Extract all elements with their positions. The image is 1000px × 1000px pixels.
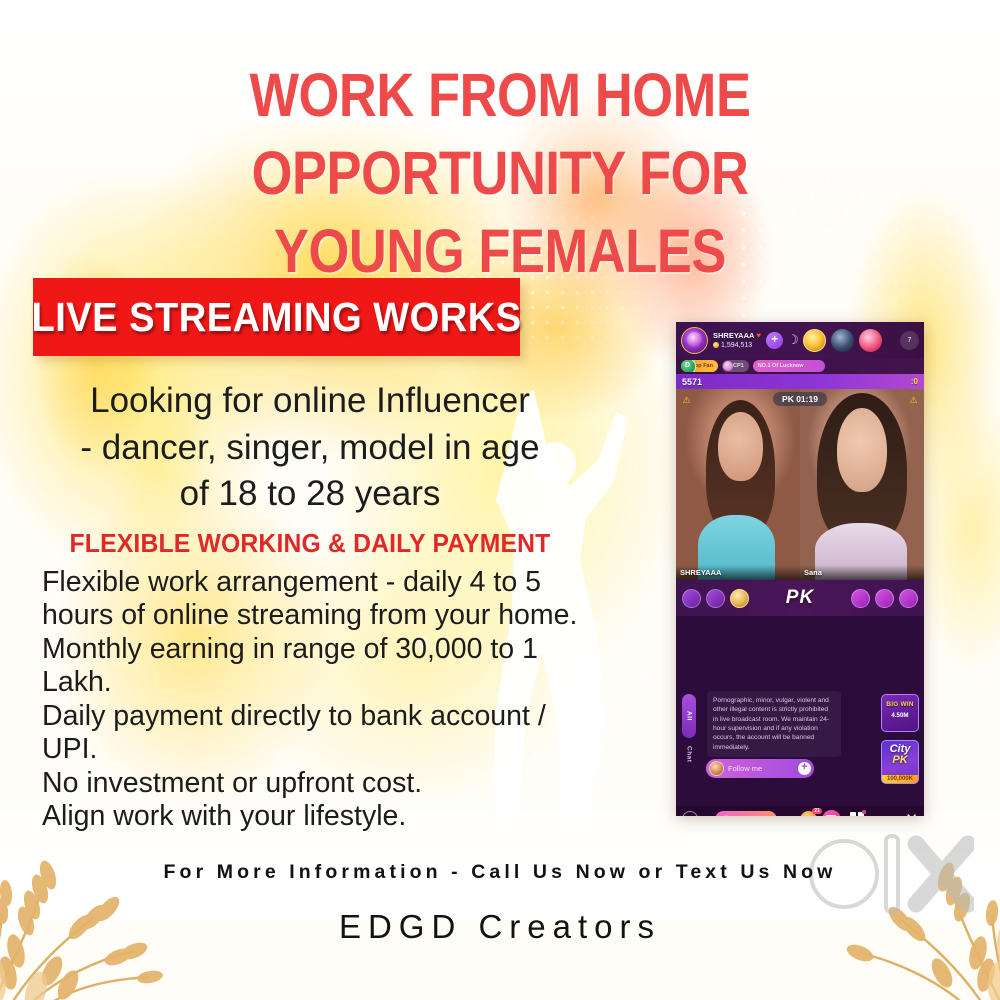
right-face-shape [837, 408, 887, 492]
viewer-avatar-1[interactable] [831, 329, 854, 352]
body-line-7: No investment or upfront cost. [42, 767, 602, 800]
sub-headline: FLEXIBLE WORKING & DAILY PAYMENT [44, 528, 576, 559]
intro-paragraph: Looking for online Influencer - dancer, … [30, 378, 590, 518]
video-left-streamer[interactable]: ⚠ SHREYAAA [676, 389, 800, 580]
body-line-6: UPI. [42, 733, 602, 766]
brand-name: EDGD Creators [0, 908, 1000, 946]
right-streamer-name-overlay: Sana [800, 565, 924, 580]
city-pk-amount: 100,000K [882, 775, 918, 783]
intro-line-3: of 18 to 28 years [30, 471, 590, 518]
big-win-value: 4.50M [882, 712, 918, 719]
crown-badge-icon[interactable] [803, 329, 826, 352]
pk-icon-2[interactable] [706, 589, 725, 608]
call-rate-button[interactable]: ☎ 8000 ♥/min [715, 811, 777, 817]
right-streamer-name: Sana [804, 568, 822, 577]
pk-right-icons [851, 589, 918, 608]
body-copy: Flexible work arrangement - daily 4 to 5… [42, 566, 602, 834]
big-win-promo-badge[interactable]: BIG WIN 4.50M [881, 694, 919, 732]
streamer-info: SHREYAAA ♥ 1,594,513 [713, 331, 761, 349]
warning-icon-right: ⚠ [908, 395, 919, 406]
pk-timer: PK 01:19 [773, 392, 827, 406]
intro-line-1: Looking for online Influencer [30, 378, 590, 425]
video-right-streamer[interactable]: ⚠ Sana [800, 389, 924, 580]
coin-count: 1,594,513 [721, 342, 752, 349]
body-line-1: Flexible work arrangement - daily 4 to 5 [42, 566, 602, 599]
pk-score-left: 5571 [682, 377, 702, 387]
live-stream-app-screenshot: SHREYAAA ♥ 1,594,513 + ☽ 7 Top Fan CP1 N… [676, 322, 924, 816]
headline: WORK FROM HOME OPPORTUNITY FOR YOUNG FEM… [0, 56, 1000, 290]
pk-icon-5[interactable] [875, 589, 894, 608]
pk-icon-3-gold[interactable] [730, 589, 749, 608]
poster-canvas: WORK FROM HOME OPPORTUNITY FOR YOUNG FEM… [0, 0, 1000, 1000]
gift-box-icon[interactable] [822, 810, 841, 817]
tab-chat[interactable]: Chat [686, 746, 693, 762]
pk-left-icons [682, 589, 749, 608]
stream-bottom-toolbar: ⋯ ☎ 8000 ♥/min ✕ [676, 806, 924, 816]
pk-icon-4[interactable] [851, 589, 870, 608]
follow-avatar [709, 761, 724, 776]
chat-tab-rail: All Chat [682, 694, 696, 762]
pk-action-bar: PK [676, 580, 924, 616]
left-face-shape [718, 412, 763, 481]
city-pk-line-2: PK [882, 755, 918, 767]
body-line-3: Monthly earning in range of 30,000 to 1 [42, 633, 602, 666]
coin-icon [713, 342, 719, 348]
body-line-2: hours of online streaming from your home… [42, 599, 602, 632]
pk-label: PK [786, 587, 814, 609]
call-rate-label: 8000 ♥/min [734, 816, 770, 817]
follow-plus-icon[interactable]: + [798, 762, 811, 775]
viewer-count-badge[interactable]: 7 [900, 331, 919, 350]
follow-plus-button[interactable]: + [766, 332, 783, 349]
message-icon[interactable]: ⋯ [682, 811, 698, 816]
streamer-name: SHREYAAA [713, 331, 754, 340]
pk-icon-1[interactable] [682, 589, 701, 608]
warning-icon-left: ⚠ [681, 395, 692, 406]
left-streamer-name: SHREYAAA [680, 568, 721, 577]
streamer-avatar[interactable] [681, 327, 708, 354]
tab-all[interactable]: All [682, 694, 696, 738]
stream-header-bar: SHREYAAA ♥ 1,594,513 + ☽ 7 [676, 322, 924, 358]
pk-score-bar: 5571 :0 [676, 374, 924, 389]
phone-icon: ☎ [722, 815, 731, 816]
body-line-4: Lakh. [42, 666, 602, 699]
stream-tag-row: Top Fan CP1 NO.1 Of Lucknow [676, 358, 924, 374]
follow-me-prompt[interactable]: Follow me + [706, 759, 814, 778]
heart-icon: ♥ [756, 331, 761, 340]
moon-icon: ☽ [787, 332, 799, 348]
coin-count-row: 1,594,513 [713, 342, 761, 349]
pk-icon-6[interactable] [899, 589, 918, 608]
body-line-8: Align work with your lifestyle. [42, 800, 602, 833]
intro-line-2: - dancer, singer, model in age [30, 425, 590, 472]
headline-line-1: WORK FROM HOME OPPORTUNITY FOR [70, 56, 930, 212]
location-rank-chip[interactable]: NO.1 Of Lucknow [753, 360, 825, 372]
cp-chip[interactable]: CP1 [722, 360, 749, 372]
gift-icon[interactable] [800, 811, 817, 817]
viewer-avatar-2[interactable] [859, 329, 882, 352]
top-fan-chip[interactable]: Top Fan [681, 360, 718, 372]
banner-label: LIVE STREAMING WORKS [31, 294, 521, 341]
apps-grid-icon[interactable] [850, 812, 864, 816]
live-streaming-banner: LIVE STREAMING WORKS [33, 278, 520, 356]
pk-score-right: :0 [911, 377, 918, 386]
big-win-title: BIG WIN [882, 701, 918, 708]
close-icon[interactable]: ✕ [905, 812, 918, 817]
left-streamer-name-overlay: SHREYAAA [676, 565, 800, 580]
contact-info-text: For More Information - Call Us Now or Te… [0, 861, 1000, 884]
chat-area: All Chat Pornographic, minor, vulgar, vi… [676, 616, 924, 816]
streamer-name-row: SHREYAAA ♥ [713, 331, 761, 340]
pk-video-split: ⚠ SHREYAAA ⚠ Sana PK 01:19 [676, 389, 924, 580]
city-pk-promo-badge[interactable]: City PK 100,000K [881, 740, 919, 784]
body-line-5: Daily payment directly to bank account / [42, 700, 602, 733]
follow-label: Follow me [728, 764, 794, 773]
content-policy-notice: Pornographic, minor, vulgar, violent and… [707, 691, 841, 757]
